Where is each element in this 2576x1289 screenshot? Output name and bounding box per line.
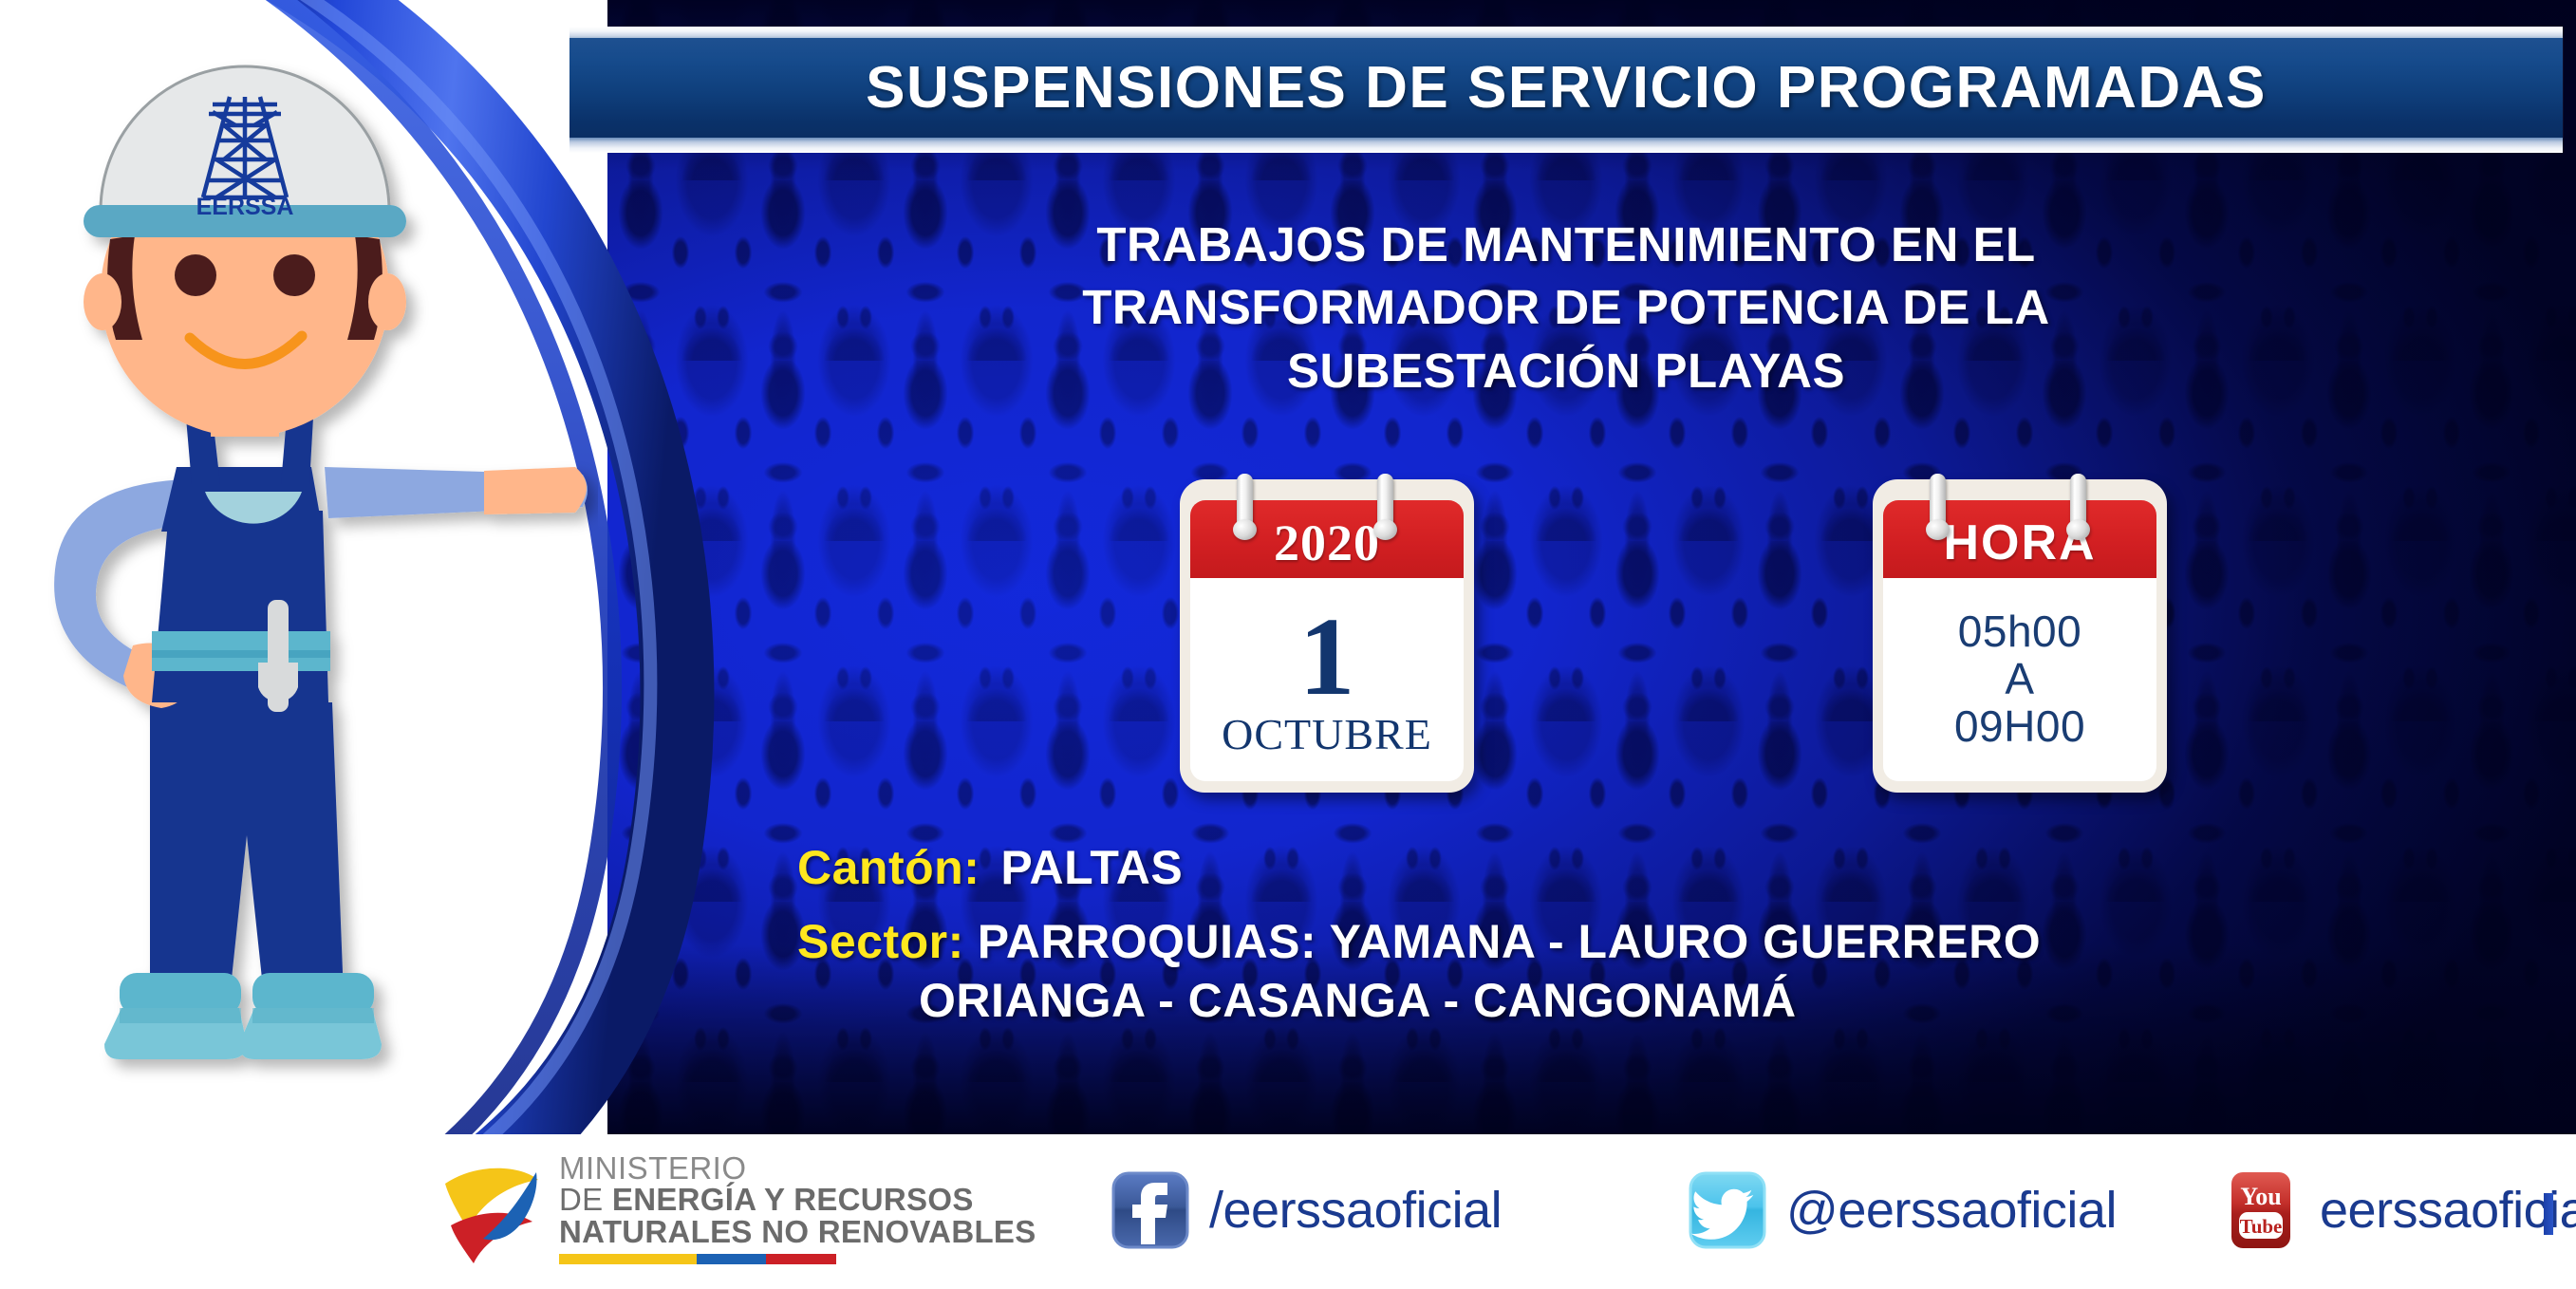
youtube-icon[interactable]: You Tube [2221, 1170, 2301, 1250]
subtitle-line-2: TRANSFORMADOR DE POTENCIA DE LA [759, 276, 2373, 339]
canton-label: Cantón: [797, 840, 980, 895]
calendar-ring-left [1237, 474, 1253, 534]
subtitle-block: TRABAJOS DE MANTENIMIENTO EN EL TRANSFOR… [759, 214, 2373, 402]
hour-calendar-ring-left [1930, 474, 1946, 534]
calendar-month-name: OCTUBRE [1222, 713, 1432, 757]
mascot-eye-left [175, 254, 216, 296]
date-calendar-header: 2020 [1190, 500, 1464, 578]
mascot-boots [104, 973, 382, 1059]
hour-calendar-body: 05h00 A 09H00 [1883, 578, 2156, 781]
youtube-handle[interactable]: eerssaoficial [2320, 1181, 2576, 1240]
date-calendar-inner: 2020 1 OCTUBRE [1190, 500, 1464, 781]
ministry-logo: MINISTERIO DE ENERGÍA Y RECURSOS NATURAL… [441, 1151, 1036, 1265]
facebook-handle[interactable]: /eerssaoficial [1209, 1181, 1502, 1240]
canton-value: PALTAS [1000, 840, 1183, 895]
mascot-legs [150, 702, 344, 997]
ecuador-flag-bar [559, 1254, 836, 1264]
mascot-group: EERSSA [54, 66, 588, 1059]
flag-red [766, 1254, 836, 1264]
flag-yellow [559, 1254, 697, 1264]
sector-value-line-2: ORIANGA - CASANGA - CANGONAMÁ [919, 973, 2506, 1028]
mascot-ear-right [368, 273, 406, 330]
subtitle-line-1: TRABAJOS DE MANTENIMIENTO EN EL [759, 214, 2373, 276]
mascot-right-hand [484, 467, 587, 514]
twitter-icon[interactable] [1688, 1170, 1767, 1250]
hour-calendar-ring-right [2070, 474, 2086, 534]
hour-start: 05h00 [1958, 608, 2081, 656]
facebook-icon[interactable] [1111, 1170, 1190, 1250]
affected-area-info: Cantón: PALTAS Sector: PARROQUIAS: YAMAN… [797, 840, 2506, 1028]
hour-calendar-header: HORA [1883, 500, 2156, 578]
twitter-link[interactable]: @eerssaoficial [1688, 1170, 2117, 1250]
ministry-line-2-bold: ENERGÍA Y RECURSOS [612, 1182, 974, 1217]
hour-calendar-inner: HORA 05h00 A 09H00 [1883, 500, 2156, 781]
date-calendar-body: 1 OCTUBRE [1190, 578, 1464, 781]
mascot-belt-stripe [152, 650, 330, 658]
mascot-eye-right [273, 254, 315, 296]
subtitle-line-3: SUBESTACIÓN PLAYAS [759, 340, 2373, 402]
ministry-text-block: MINISTERIO DE ENERGÍA Y RECURSOS NATURAL… [559, 1152, 1036, 1265]
youtube-link[interactable]: You Tube eerssaoficial [2221, 1170, 2576, 1250]
mascot-ear-left [84, 273, 121, 330]
banner-bottom-border [569, 138, 2563, 153]
hour-end: 09H00 [1954, 703, 2085, 751]
canton-row: Cantón: PALTAS [797, 840, 2506, 895]
ministry-line-2: DE ENERGÍA Y RECURSOS [559, 1184, 1036, 1216]
calendar-day-number: 1 [1299, 603, 1355, 710]
date-calendar-card: 2020 1 OCTUBRE [1180, 479, 1474, 793]
banner-title: SUSPENSIONES DE SERVICIO PROGRAMADAS [569, 38, 2563, 138]
hour-calendar-card: HORA 05h00 A 09H00 [1873, 479, 2167, 793]
mascot-overall-body [152, 511, 328, 702]
footer-bar: MINISTERIO DE ENERGÍA Y RECURSOS NATURAL… [0, 1134, 2576, 1289]
sector-value-line-1: PARROQUIAS: YAMANA - LAURO GUERRERO [978, 914, 2041, 969]
sector-row: Sector: PARROQUIAS: YAMANA - LAURO GUERR… [797, 914, 2506, 969]
ministry-mark-icon [441, 1151, 544, 1265]
svg-text:You: You [2240, 1183, 2281, 1210]
calendar-ring-right [1377, 474, 1393, 534]
footer-blue-accent-bar [2544, 1193, 2553, 1235]
hour-separator: A [2005, 656, 2034, 703]
calendar-year: 2020 [1274, 514, 1380, 572]
flag-blue [697, 1254, 766, 1264]
facebook-link[interactable]: /eerssaoficial [1111, 1170, 1502, 1250]
poster-root: EERSSA SUSPENSIONES DE SERVICIO PROGRAMA… [0, 0, 2576, 1289]
svg-text:Tube: Tube [2240, 1215, 2283, 1238]
ministry-line-1: MINISTERIO [559, 1152, 1036, 1185]
sector-label: Sector: [797, 914, 964, 969]
ministry-line-3: NATURALES NO RENOVABLES [559, 1216, 1036, 1248]
mascot-electrician-illustration: EERSSA [9, 38, 598, 1130]
eerssa-helmet-label: EERSSA [196, 194, 294, 220]
twitter-handle[interactable]: @eerssaoficial [1786, 1181, 2117, 1240]
ministry-line-2-prefix: DE [559, 1182, 612, 1217]
